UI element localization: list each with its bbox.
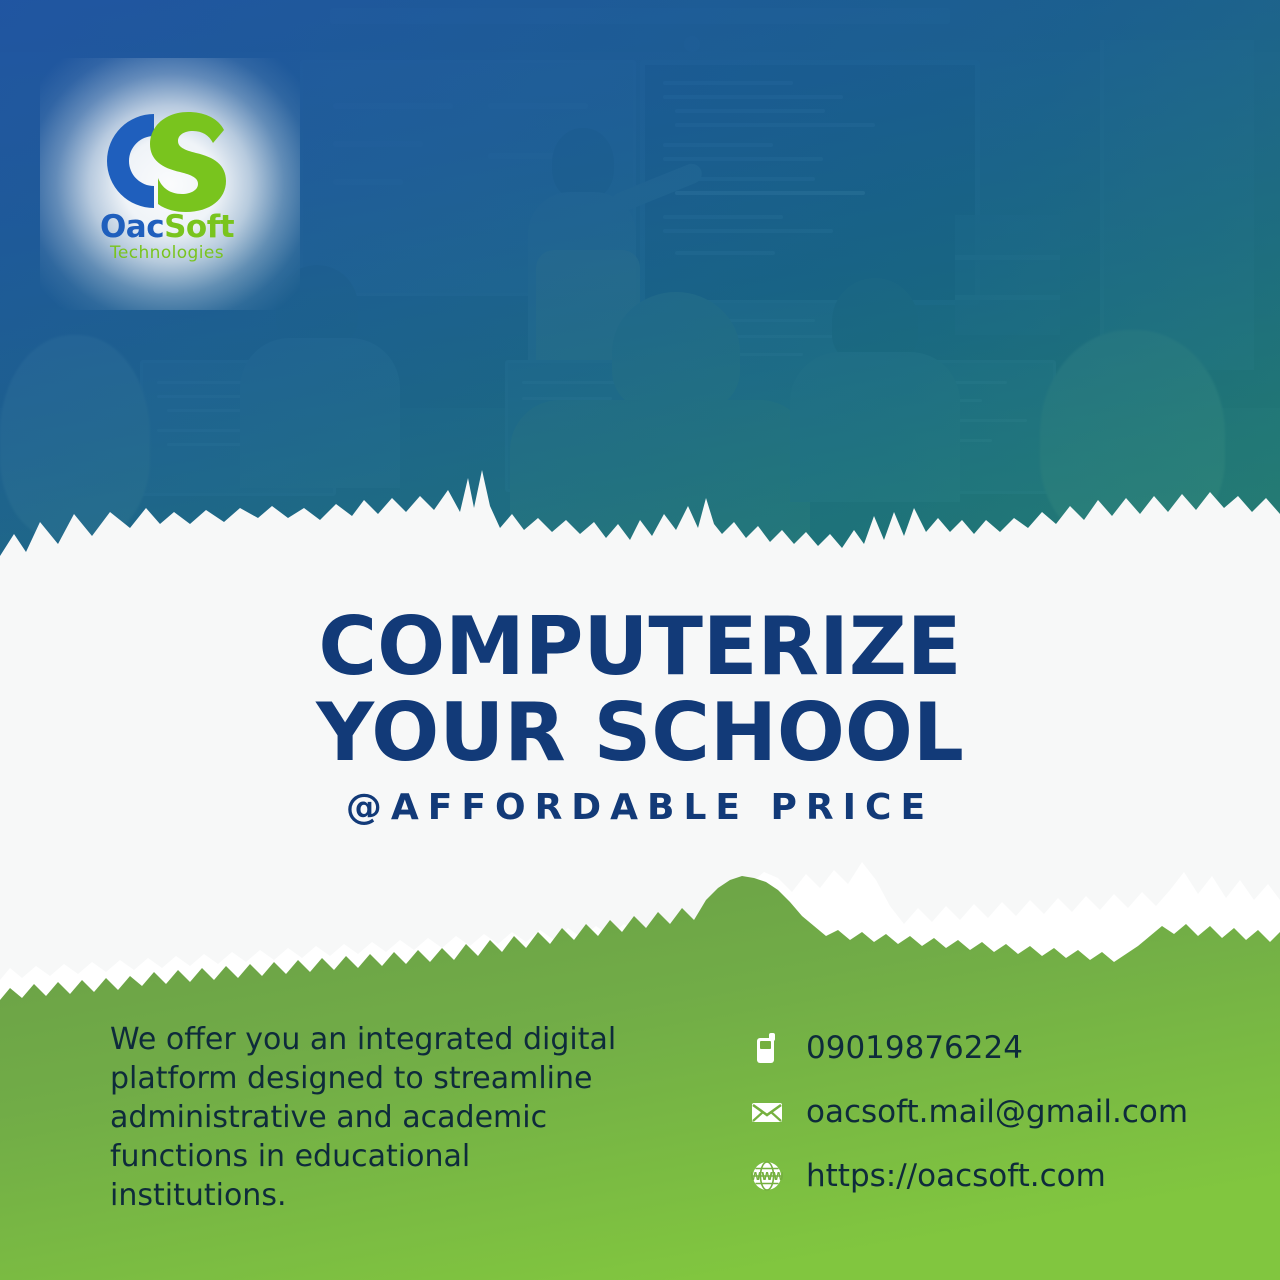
cs-monogram-icon xyxy=(92,108,242,216)
envelope-icon xyxy=(750,1095,784,1129)
headline-subtitle: @AFFORDABLE PRICE xyxy=(0,787,1280,828)
contact-row-email[interactable]: oacsoft.mail@gmail.com xyxy=(750,1094,1280,1130)
contact-row-phone[interactable]: 09019876224 xyxy=(750,1030,1280,1066)
mobile-phone-icon xyxy=(750,1031,784,1065)
footer-content: We offer you an integrated digital platf… xyxy=(0,1020,1280,1280)
contact-label-email: oacsoft.mail@gmail.com xyxy=(806,1094,1188,1130)
photo-tint-overlay-2 xyxy=(0,0,1280,600)
www-globe-icon: WWW xyxy=(750,1159,784,1193)
logo-name-part2: Soft xyxy=(164,209,234,245)
headline-line2: YOUR SCHOOL xyxy=(0,690,1280,776)
contact-label-phone: 09019876224 xyxy=(806,1030,1023,1066)
svg-text:WWW: WWW xyxy=(751,1171,783,1183)
logo-wordmark: OacSoft Technologies xyxy=(92,212,242,262)
logo: OacSoft Technologies xyxy=(92,108,252,273)
hero-photo xyxy=(0,0,1280,600)
headline-line1: COMPUTERIZE xyxy=(0,604,1280,690)
logo-tagline: Technologies xyxy=(92,245,242,262)
contact-label-website: https://oacsoft.com xyxy=(806,1158,1106,1194)
poster: OacSoft Technologies COMPUTERIZE YOUR SC… xyxy=(0,0,1280,1280)
logo-name-part1: Oac xyxy=(100,209,164,245)
contact-list: 09019876224 oacsoft.mail@gmail.com xyxy=(640,1020,1280,1280)
classroom-photo xyxy=(0,0,1280,600)
blurb-text: We offer you an integrated digital platf… xyxy=(0,1020,640,1280)
headline-block: COMPUTERIZE YOUR SCHOOL @AFFORDABLE PRIC… xyxy=(0,604,1280,828)
contact-row-website[interactable]: WWW https://oacsoft.com xyxy=(750,1158,1280,1194)
